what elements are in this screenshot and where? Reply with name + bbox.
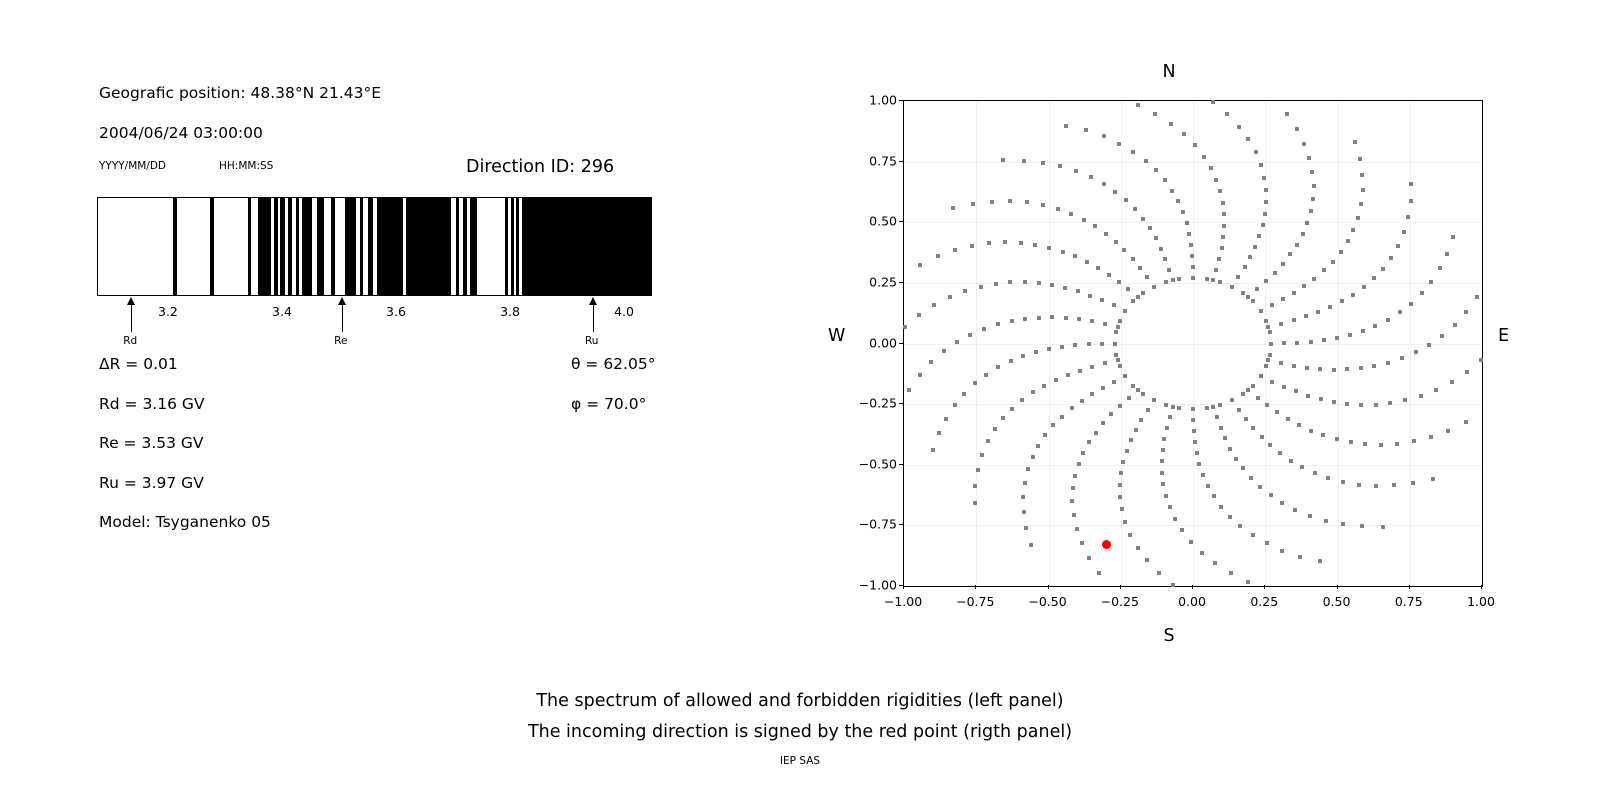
direction-point <box>1322 268 1326 272</box>
compass-label-south: S <box>1163 626 1174 646</box>
direction-point <box>1305 366 1309 370</box>
direction-point <box>1297 423 1301 427</box>
direction-point <box>1087 440 1091 444</box>
direction-point <box>1261 223 1265 227</box>
gridline-horizontal <box>904 404 1482 405</box>
x-tick-mark <box>1337 585 1338 589</box>
forbidden-band <box>360 198 363 295</box>
direction-point <box>1292 291 1296 295</box>
direction-point <box>1335 437 1339 441</box>
marker-arrow-shaft <box>131 304 132 332</box>
marker-arrow-head <box>338 297 346 305</box>
direction-point <box>1301 232 1305 236</box>
forbidden-band <box>522 198 651 295</box>
direction-point <box>1427 343 1431 347</box>
direction-point <box>1077 317 1081 321</box>
direction-point <box>1429 280 1433 284</box>
direction-point <box>1041 203 1045 207</box>
direction-point <box>1266 325 1270 329</box>
geographic-position-label: Geografic position: 48.38°N 21.43°E <box>99 84 381 102</box>
direction-point <box>1273 271 1277 275</box>
direction-point <box>1176 199 1180 203</box>
direction-point <box>1374 403 1378 407</box>
direction-point <box>1244 417 1248 421</box>
direction-point <box>1090 365 1094 369</box>
direction-point <box>1029 543 1033 547</box>
direction-point <box>955 340 959 344</box>
direction-point <box>1054 378 1058 382</box>
direction-point <box>953 248 957 252</box>
direction-point <box>1033 243 1037 247</box>
forbidden-band <box>248 198 251 295</box>
direction-point <box>1209 166 1213 170</box>
direction-point <box>1136 295 1140 299</box>
gridline-horizontal <box>904 525 1482 526</box>
direction-point <box>1060 415 1064 419</box>
direction-point <box>1081 451 1085 455</box>
y-tick-label: 0.75 <box>849 153 897 168</box>
forbidden-band <box>368 198 373 295</box>
parameter-left-value: Re = 3.53 GV <box>99 434 204 452</box>
direction-point <box>990 200 994 204</box>
direction-point <box>1358 157 1362 161</box>
spectrum-x-axis: 3.23.43.63.84.0RdReRu <box>97 296 652 356</box>
direction-point <box>973 381 977 385</box>
direction-point <box>973 501 977 505</box>
direction-point <box>1023 317 1027 321</box>
direction-point <box>1275 410 1279 414</box>
direction-point <box>1141 392 1145 396</box>
direction-point <box>1321 433 1325 437</box>
marker-arrow-shaft <box>342 304 343 332</box>
direction-point <box>1073 343 1077 347</box>
caption-line-2: The incoming direction is signed by the … <box>0 717 1600 748</box>
direction-point <box>1061 250 1065 254</box>
direction-point <box>1113 190 1117 194</box>
direction-scatter-plot <box>903 100 1483 587</box>
direction-point <box>1215 415 1219 419</box>
direction-point <box>1248 255 1252 259</box>
direction-point <box>1123 374 1127 378</box>
direction-point <box>903 325 907 329</box>
footer-label: IEP SAS <box>0 755 1600 767</box>
direction-point <box>1056 207 1060 211</box>
x-tick-label: 0.00 <box>1178 594 1206 609</box>
forbidden-band <box>274 198 277 295</box>
direction-point <box>1351 293 1355 297</box>
direction-point <box>929 360 933 364</box>
direction-point <box>1265 403 1269 407</box>
x-tick-mark <box>1048 585 1049 589</box>
direction-point <box>1311 197 1315 201</box>
direction-point <box>1189 243 1193 247</box>
x-tick-label: −0.75 <box>956 594 994 609</box>
direction-point <box>1202 155 1206 159</box>
direction-point <box>1345 402 1349 406</box>
direction-point <box>1228 515 1232 519</box>
direction-point <box>1164 403 1168 407</box>
direction-point <box>1281 262 1285 266</box>
direction-point <box>1096 266 1100 270</box>
direction-point <box>1163 178 1167 182</box>
direction-point <box>1182 132 1186 136</box>
direction-point <box>1165 426 1169 430</box>
direction-point <box>996 365 1000 369</box>
direction-point <box>1101 386 1105 390</box>
direction-point <box>1119 471 1123 475</box>
direction-point <box>1300 465 1304 469</box>
direction-point <box>1237 125 1241 129</box>
direction-point <box>1309 340 1313 344</box>
direction-point <box>1133 207 1137 211</box>
direction-point <box>1031 390 1035 394</box>
y-tick-label: −0.75 <box>849 517 897 532</box>
direction-point <box>1148 226 1152 230</box>
direction-point <box>1264 279 1268 283</box>
direction-point <box>1167 268 1171 272</box>
direction-point <box>1205 277 1209 281</box>
direction-point <box>1022 510 1026 514</box>
direction-point <box>1171 583 1175 587</box>
direction-point <box>1322 338 1326 342</box>
direction-point <box>1218 280 1222 284</box>
direction-point <box>1298 555 1302 559</box>
direction-point <box>1386 361 1390 365</box>
direction-point <box>1087 342 1091 346</box>
x-tick-mark <box>1264 585 1265 589</box>
direction-point <box>1313 471 1317 475</box>
direction-point <box>1101 421 1105 425</box>
direction-point <box>936 254 940 258</box>
direction-point <box>1285 112 1289 116</box>
direction-point <box>1152 285 1156 289</box>
direction-point <box>1050 283 1054 287</box>
direction-point <box>1191 276 1195 280</box>
direction-point <box>1269 342 1273 346</box>
direction-point <box>1265 541 1269 545</box>
direction-point <box>1074 169 1078 173</box>
direction-point <box>1251 384 1255 388</box>
direction-point <box>1097 571 1101 575</box>
direction-point <box>1269 493 1273 497</box>
direction-point <box>1225 112 1229 116</box>
forbidden-band <box>302 198 312 295</box>
direction-point <box>980 453 984 457</box>
direction-point <box>1131 384 1135 388</box>
direction-point <box>1359 403 1363 407</box>
direction-point <box>1214 178 1218 182</box>
direction-point <box>1025 200 1029 204</box>
direction-point <box>1234 457 1238 461</box>
direction-point <box>1294 389 1298 393</box>
direction-point <box>1109 412 1113 416</box>
direction-point <box>1128 533 1132 537</box>
direction-point <box>1197 462 1201 466</box>
y-tick-label: −0.25 <box>849 396 897 411</box>
direction-point <box>1064 316 1068 320</box>
direction-point <box>1236 275 1240 279</box>
direction-point <box>1341 480 1345 484</box>
direction-point <box>1076 289 1080 293</box>
direction-point <box>1292 318 1296 322</box>
direction-point <box>1246 580 1250 584</box>
direction-point <box>1310 170 1314 174</box>
direction-point <box>1264 319 1268 323</box>
direction-point <box>1177 406 1181 410</box>
direction-point <box>1162 437 1166 441</box>
direction-point <box>1193 440 1197 444</box>
direction-point <box>1260 435 1264 439</box>
direction-point <box>1171 405 1175 409</box>
direction-point <box>1266 358 1270 362</box>
forbidden-band <box>470 198 476 295</box>
direction-point <box>1152 398 1156 402</box>
direction-point <box>1464 310 1468 314</box>
direction-point <box>1406 215 1410 219</box>
direction-point <box>1409 199 1413 203</box>
x-tick-label: 0.75 <box>1395 594 1423 609</box>
direction-point <box>1259 374 1263 378</box>
direction-point <box>1446 429 1450 433</box>
direction-point <box>1206 484 1210 488</box>
direction-point <box>1077 462 1081 466</box>
direction-point <box>1154 236 1158 240</box>
direction-point <box>1100 298 1104 302</box>
direction-point <box>1118 495 1122 499</box>
parameter-row: Re = 3.53 GV <box>99 434 669 474</box>
direction-point <box>1386 318 1390 322</box>
direction-point <box>1372 276 1376 280</box>
direction-point <box>917 313 921 317</box>
direction-point <box>1214 268 1218 272</box>
direction-point <box>1141 291 1145 295</box>
direction-point <box>1268 443 1272 447</box>
direction-point <box>1043 433 1047 437</box>
direction-point <box>1145 558 1149 562</box>
direction-point <box>1021 495 1025 499</box>
direction-point <box>1146 408 1150 412</box>
direction-point <box>1282 341 1286 345</box>
direction-point <box>1073 254 1077 258</box>
direction-point <box>1205 406 1209 410</box>
forbidden-band <box>258 198 272 295</box>
direction-point <box>962 392 966 396</box>
direction-point <box>1419 394 1423 398</box>
direction-point <box>1010 407 1014 411</box>
gridline-horizontal <box>904 222 1482 223</box>
direction-point <box>1259 309 1263 313</box>
direction-point <box>1138 266 1142 270</box>
direction-point <box>1256 396 1260 400</box>
direction-point <box>1114 330 1118 334</box>
direction-point <box>1169 122 1173 126</box>
forbidden-band <box>456 198 459 295</box>
parameter-left-value: Rd = 3.16 GV <box>99 395 205 413</box>
direction-map-panel: N S W E −1.00−0.75−0.50−0.250.000.250.50… <box>820 40 1520 660</box>
y-tick-mark <box>899 524 903 525</box>
direction-point <box>1192 429 1196 433</box>
direction-point <box>1063 286 1067 290</box>
direction-point <box>1123 309 1127 313</box>
x-tick-mark <box>1481 585 1482 589</box>
direction-point <box>1107 273 1111 277</box>
direction-point <box>1223 436 1227 440</box>
direction-point <box>1229 571 1233 575</box>
direction-point <box>1173 517 1177 521</box>
direction-point <box>1042 384 1046 388</box>
direction-point <box>1254 150 1258 154</box>
direction-point <box>1219 426 1223 430</box>
direction-point <box>1094 431 1098 435</box>
selected-direction-point[interactable] <box>1102 540 1111 549</box>
compass-label-west: W <box>828 326 845 346</box>
direction-point <box>937 431 941 435</box>
forbidden-band <box>463 198 467 295</box>
direction-point <box>1305 221 1309 225</box>
direction-point <box>1360 524 1364 528</box>
caption-line-1: The spectrum of allowed and forbidden ri… <box>0 686 1600 717</box>
direction-point <box>1453 323 1457 327</box>
direction-point <box>1125 449 1129 453</box>
direction-point <box>942 349 946 353</box>
direction-point <box>1465 370 1469 374</box>
direction-point <box>1389 256 1393 260</box>
direction-point <box>944 417 948 421</box>
direction-point <box>994 282 998 286</box>
direction-point <box>1021 354 1025 358</box>
direction-point <box>1270 303 1274 307</box>
direction-point <box>1116 325 1120 329</box>
direction-point <box>1228 447 1232 451</box>
direction-point <box>1022 159 1026 163</box>
direction-point <box>931 448 935 452</box>
direction-point <box>1280 501 1284 505</box>
direction-point <box>951 206 955 210</box>
direction-point <box>1211 278 1215 282</box>
parameter-right-value: θ = 62.05° <box>571 355 655 373</box>
direction-point <box>1072 513 1076 517</box>
direction-point <box>1103 361 1107 365</box>
direction-point <box>1145 275 1149 279</box>
direction-point <box>1154 168 1158 172</box>
direction-point <box>907 388 911 392</box>
forbidden-band <box>377 198 403 295</box>
direction-point <box>1220 246 1224 250</box>
forbidden-band <box>280 198 285 295</box>
direction-point <box>1221 201 1225 205</box>
compass-label-east: E <box>1498 326 1509 346</box>
direction-point <box>1324 519 1328 523</box>
direction-point <box>1361 188 1365 192</box>
direction-point <box>1023 481 1027 485</box>
direction-point <box>1479 358 1483 362</box>
direction-point <box>1047 246 1051 250</box>
direction-point <box>1070 499 1074 503</box>
direction-point <box>1141 217 1145 221</box>
direction-point <box>1171 278 1175 282</box>
direction-point <box>1362 285 1366 289</box>
forbidden-band <box>288 198 292 295</box>
direction-point <box>1217 257 1221 261</box>
direction-point <box>1341 522 1345 526</box>
direction-point <box>1126 287 1130 291</box>
direction-point <box>1102 134 1106 138</box>
direction-point <box>1100 342 1104 346</box>
direction-point <box>1295 127 1299 131</box>
direction-point <box>1363 442 1367 446</box>
figure-caption: The spectrum of allowed and forbidden ri… <box>0 686 1600 748</box>
direction-point <box>1122 248 1126 252</box>
time-format-hint: HH:MM:SS <box>219 160 273 172</box>
direction-point <box>1249 476 1253 480</box>
direction-point <box>1381 525 1385 529</box>
spectrum-tick-label: 3.6 <box>386 304 406 319</box>
direction-point <box>1073 474 1077 478</box>
direction-point <box>932 303 936 307</box>
direction-point <box>1051 423 1055 427</box>
direction-point <box>1050 315 1054 319</box>
direction-point <box>1312 277 1316 281</box>
x-tick-label: −0.25 <box>1101 594 1139 609</box>
direction-point <box>1201 473 1205 477</box>
direction-point <box>1144 159 1148 163</box>
y-tick-label: 0.50 <box>849 214 897 229</box>
direction-point <box>1001 416 1005 420</box>
direction-point <box>1331 260 1335 264</box>
direction-point <box>1034 350 1038 354</box>
direction-point <box>1308 514 1312 518</box>
direction-point <box>1318 367 1322 371</box>
direction-point <box>1168 505 1172 509</box>
forbidden-band <box>505 198 508 295</box>
direction-point <box>1187 232 1191 236</box>
direction-point <box>1361 329 1365 333</box>
marker-arrow-shaft <box>593 304 594 332</box>
direction-point <box>1251 533 1255 537</box>
direction-point <box>1346 239 1350 243</box>
direction-point <box>1388 401 1392 405</box>
direction-point <box>982 327 986 331</box>
y-tick-mark <box>899 221 903 222</box>
x-tick-label: 0.50 <box>1323 594 1351 609</box>
direction-point <box>1438 266 1442 270</box>
direction-point <box>1304 314 1308 318</box>
direction-point <box>1451 235 1455 239</box>
direction-point <box>1411 481 1415 485</box>
x-tick-mark <box>1120 585 1121 589</box>
direction-point <box>1319 397 1323 401</box>
direction-point <box>1070 406 1074 410</box>
direction-point <box>1279 361 1283 365</box>
direction-point <box>1020 398 1024 402</box>
y-tick-label: 1.00 <box>849 93 897 108</box>
direction-point <box>1281 297 1285 301</box>
direction-point <box>1114 240 1118 244</box>
direction-point <box>1131 150 1135 154</box>
x-tick-mark <box>903 585 904 589</box>
direction-point <box>1475 295 1479 299</box>
direction-point <box>1060 345 1064 349</box>
direction-point <box>1289 459 1293 463</box>
direction-point <box>1189 540 1193 544</box>
direction-point <box>1328 305 1332 309</box>
direction-point <box>948 295 952 299</box>
direction-point <box>1403 398 1407 402</box>
direction-point <box>1085 260 1089 264</box>
direction-point <box>1019 241 1023 245</box>
direction-point <box>1071 486 1075 490</box>
direction-point <box>1159 247 1163 251</box>
